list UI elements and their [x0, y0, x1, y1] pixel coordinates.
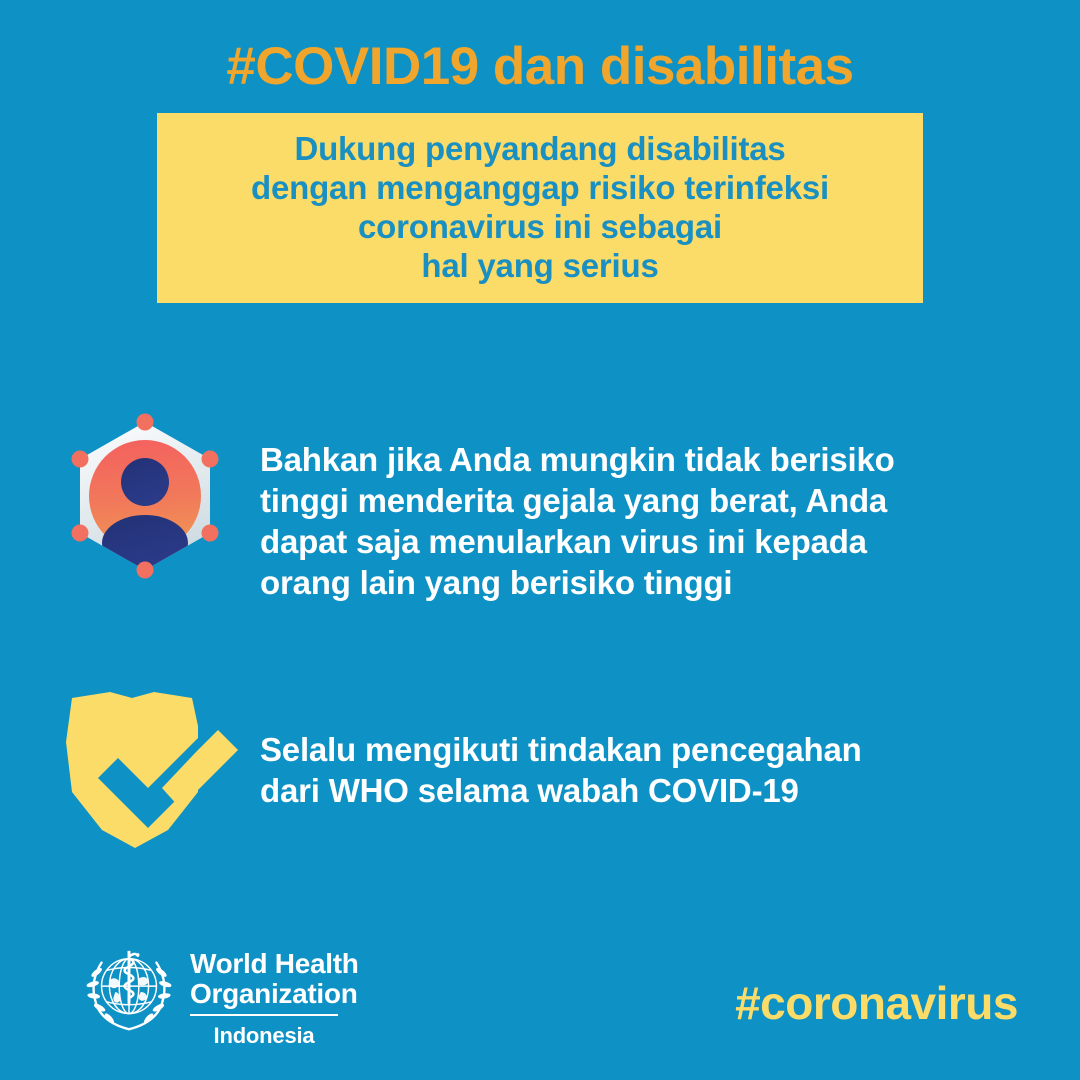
hexagon-vertex-dot: [202, 451, 219, 468]
icon-slot-shield-check: [50, 680, 260, 870]
icon-slot-person-hexagon: [50, 400, 260, 620]
poster-canvas: #COVID19 dan disabilitas Dukung penyanda…: [0, 0, 1080, 1080]
hexagon-vertex-dot: [137, 414, 154, 431]
who-logo: World Health Organization Indonesia: [80, 943, 359, 1049]
hexagon-vertex-dot: [72, 451, 89, 468]
who-wordmark: World Health Organization Indonesia: [190, 943, 359, 1049]
hashtag-coronavirus: #coronavirus: [735, 976, 1018, 1030]
hexagon-vertex-dot: [72, 525, 89, 542]
message-row-prevention: Selalu mengikuti tindakan pencegahan dar…: [50, 680, 1040, 870]
who-country-name: Indonesia: [190, 1023, 338, 1049]
shield-body: [66, 692, 198, 848]
message-row-risk: Bahkan jika Anda mungkin tidak berisiko …: [50, 400, 1040, 620]
shield-check-icon: [50, 680, 260, 870]
page-title: #COVID19 dan disabilitas: [0, 40, 1080, 93]
avatar-head: [121, 458, 169, 506]
callout-box: Dukung penyandang disabilitas dengan men…: [157, 113, 923, 303]
hexagon-vertex-dot: [202, 525, 219, 542]
who-organization-name: World Health Organization: [190, 949, 359, 1009]
callout-text: Dukung penyandang disabilitas dengan men…: [251, 130, 829, 286]
message-text-prevention: Selalu mengikuti tindakan pencegahan dar…: [260, 680, 862, 812]
who-emblem-icon: [80, 943, 178, 1041]
person-in-hexagon-icon: [50, 400, 260, 620]
hexagon-vertex-dot: [137, 562, 154, 579]
message-text-risk: Bahkan jika Anda mungkin tidak berisiko …: [260, 400, 895, 604]
who-divider: [190, 1014, 338, 1016]
person-avatar-group: [89, 440, 201, 571]
who-emblem-wrap: [80, 943, 178, 1046]
